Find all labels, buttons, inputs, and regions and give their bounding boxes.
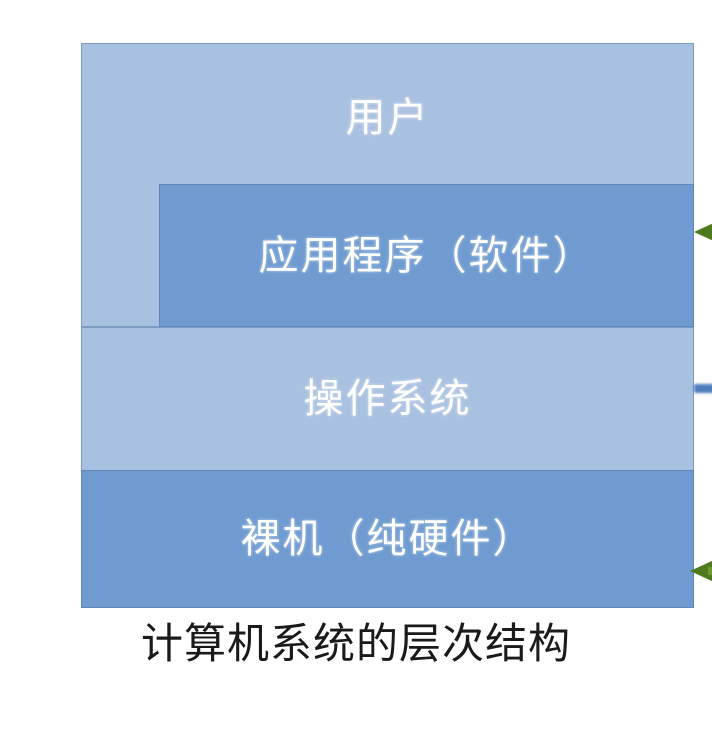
diagram-caption: 计算机系统的层次结构: [0, 622, 712, 668]
layer-operating-system: 操作系统: [81, 327, 694, 471]
layered-architecture-diagram: 用户 应用程序（软件） 操作系统 裸机（纯硬件）: [81, 43, 694, 608]
layer-bare-machine-label: 裸机（纯硬件）: [241, 519, 535, 559]
layer-application-label: 应用程序（软件）: [259, 236, 595, 276]
layer-user-label: 用户: [82, 98, 693, 138]
layer-operating-system-label: 操作系统: [304, 379, 472, 419]
marker-bottom-arrow-tail: [708, 567, 712, 575]
marker-top-arrow-icon: [694, 221, 712, 243]
layer-bare-machine: 裸机（纯硬件）: [81, 470, 694, 608]
marker-middle-dash-icon: [694, 384, 712, 393]
diagram-canvas: 用户 应用程序（软件） 操作系统 裸机（纯硬件） 计算机系统的层次结构: [0, 0, 712, 742]
layer-application: 应用程序（软件）: [159, 184, 694, 327]
